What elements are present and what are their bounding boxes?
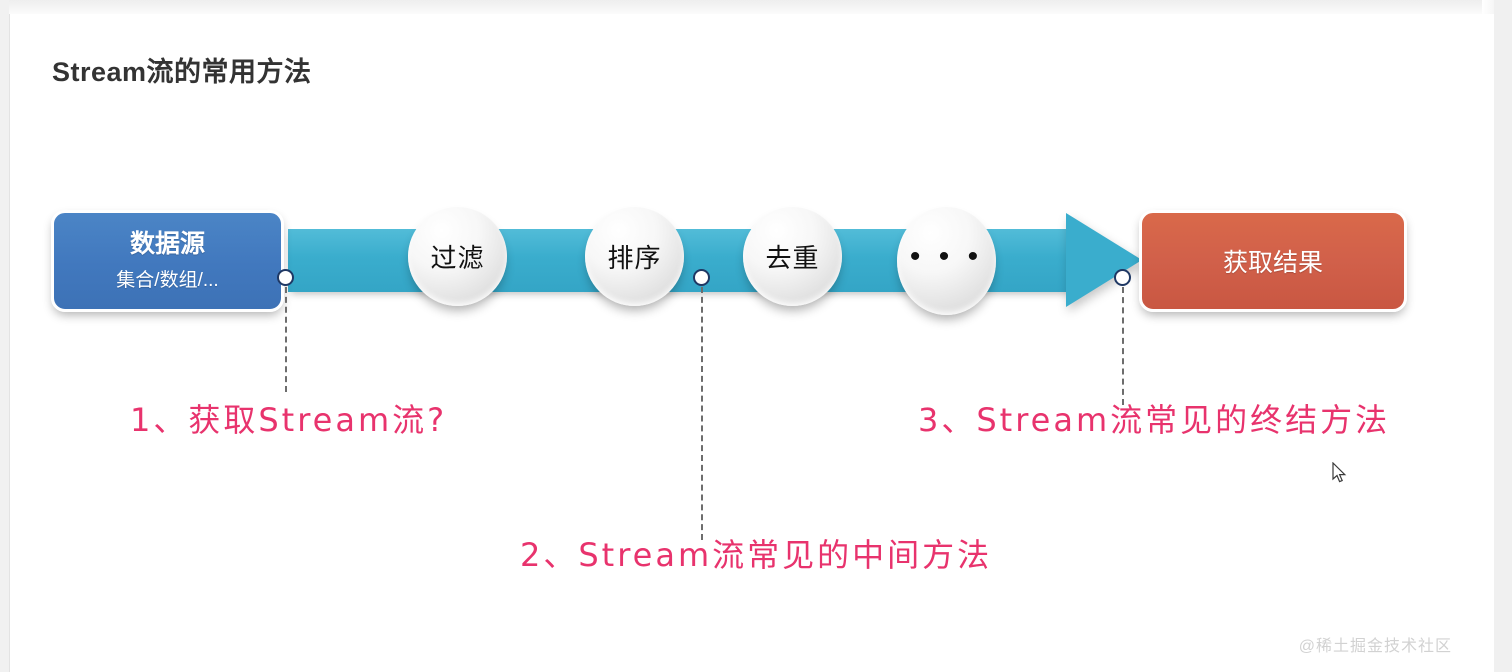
step-node-more[interactable]: • • • (897, 207, 996, 315)
annotation-2: 2、Stream流常见的中间方法 (520, 530, 992, 576)
watermark: @稀土掘金技术社区 (1299, 632, 1452, 656)
slide-screen: Stream流的常用方法 数据源 集合/数组/... 过滤 排序 去重 • • … (0, 0, 1512, 672)
connector-dot-1[interactable] (277, 269, 294, 286)
step-node-distinct-label: 去重 (765, 238, 819, 275)
result-box[interactable]: 获取结果 (1139, 210, 1407, 312)
step-node-filter-label: 过滤 (430, 238, 484, 275)
flow-arrow-head-icon (1066, 213, 1142, 307)
step-node-filter[interactable]: 过滤 (408, 207, 507, 306)
step-node-distinct[interactable]: 去重 (743, 207, 842, 306)
connector-dot-3[interactable] (1114, 269, 1131, 286)
source-box[interactable]: 数据源 集合/数组/... (51, 210, 284, 312)
page-title: Stream流的常用方法 (52, 50, 312, 89)
leader-line-1 (285, 287, 287, 392)
window-top-edge (9, 0, 1512, 14)
result-box-title: 获取结果 (1223, 243, 1323, 279)
window-right-edge (1494, 0, 1512, 672)
connector-dot-2[interactable] (693, 269, 710, 286)
window-left-edge (0, 0, 10, 672)
leader-line-2 (701, 287, 703, 540)
mouse-cursor-icon (1332, 462, 1347, 484)
step-node-sort[interactable]: 排序 (585, 207, 684, 306)
leader-line-3 (1122, 287, 1124, 405)
slide-canvas: Stream流的常用方法 数据源 集合/数组/... 过滤 排序 去重 • • … (10, 14, 1494, 672)
source-box-title: 数据源 (130, 230, 205, 259)
step-node-sort-label: 排序 (607, 238, 661, 275)
annotation-1: 1、获取Stream流? (130, 395, 447, 441)
source-box-subtitle: 集合/数组/... (116, 265, 218, 292)
annotation-3: 3、Stream流常见的终结方法 (918, 395, 1390, 441)
step-node-more-label: • • • (910, 240, 983, 274)
